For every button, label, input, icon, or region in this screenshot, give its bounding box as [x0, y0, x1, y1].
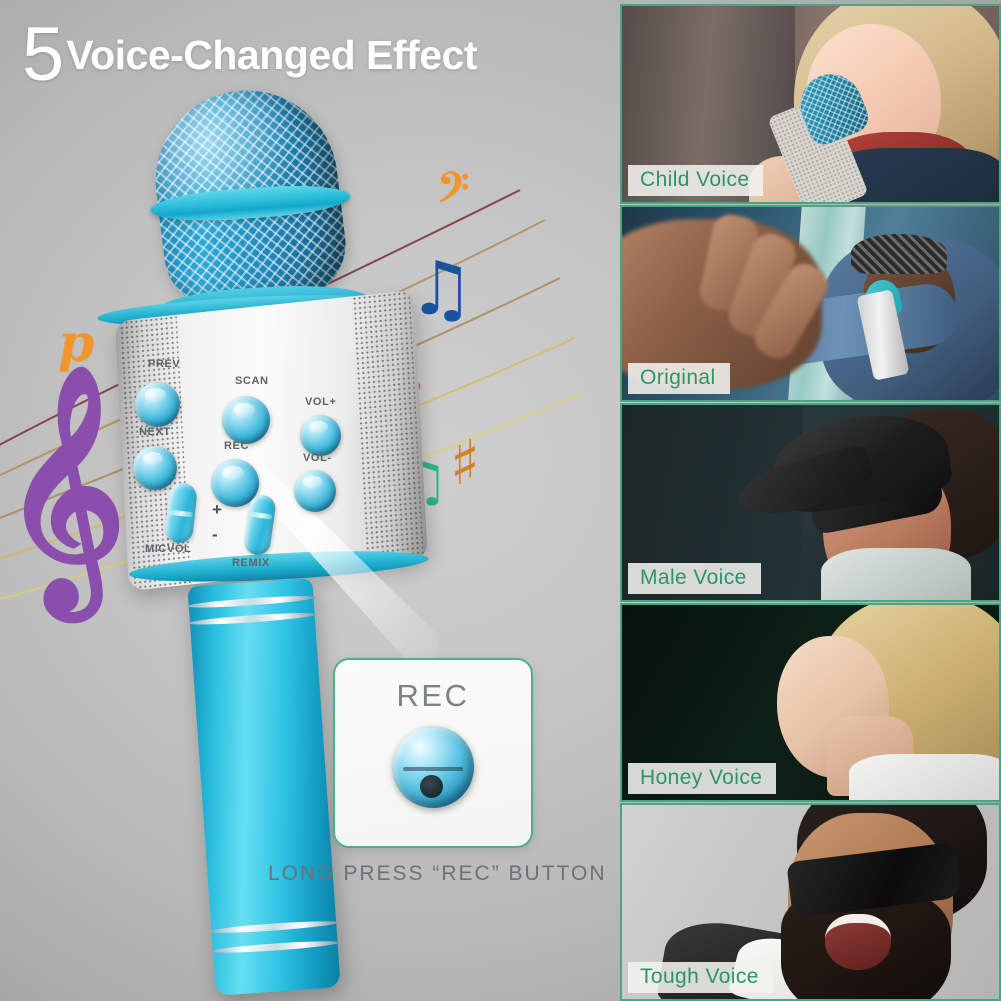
rec-instruction-caption: LONG PRESS “REC” BUTTON: [268, 862, 606, 886]
voice-panel-label: Original: [628, 363, 730, 394]
rec-callout-button-icon: [392, 726, 474, 808]
voice-panel-tough[interactable]: Tough Voice: [620, 803, 1001, 1001]
bass-clef-icon: 𝄢: [437, 168, 469, 218]
voice-panel-label: Honey Voice: [628, 763, 776, 794]
hero-product-area: 𝄞 p 𝄢 ♫ ♪ ♯ ♫ PREV: [0, 0, 620, 1001]
page-title: 5 Voice-Changed Effect: [22, 18, 477, 83]
rec-callout-box: REC: [333, 658, 533, 848]
man-shirt: [821, 548, 971, 602]
handle-ring: [211, 939, 340, 955]
handle-ring: [187, 594, 316, 610]
voice-panel-honey[interactable]: Honey Voice: [620, 603, 1001, 802]
speaker-grille-right: [352, 290, 424, 566]
voice-panel-original[interactable]: Original: [620, 205, 1001, 402]
blue-note-icon: ♫: [408, 252, 474, 326]
performer-bandana: [851, 234, 947, 274]
title-text: Voice-Changed Effect: [66, 35, 477, 76]
speaker-body: [115, 290, 428, 591]
rec-callout-title: REC: [397, 678, 470, 714]
product-marketing-image: 𝄞 p 𝄢 ♫ ♪ ♯ ♫ PREV: [0, 0, 1001, 1001]
sharp-sign-icon: ♯: [450, 432, 480, 494]
voice-panel-label: Male Voice: [628, 563, 761, 594]
handle-ring: [209, 919, 338, 935]
handle-ring: [188, 611, 317, 627]
title-number: 5: [22, 22, 63, 87]
speaker-grille-left: [119, 315, 191, 591]
voice-panel-label: Child Voice: [628, 165, 763, 196]
woman-top: [849, 754, 1001, 802]
voice-panel-child[interactable]: Child Voice: [620, 4, 1001, 204]
voice-panel-male[interactable]: Male Voice: [620, 403, 1001, 602]
voice-effect-panel-list: Child Voice Original: [620, 0, 1001, 1001]
open-mouth: [825, 914, 891, 970]
voice-panel-label: Tough Voice: [628, 962, 773, 993]
microphone-handle: [187, 578, 340, 996]
